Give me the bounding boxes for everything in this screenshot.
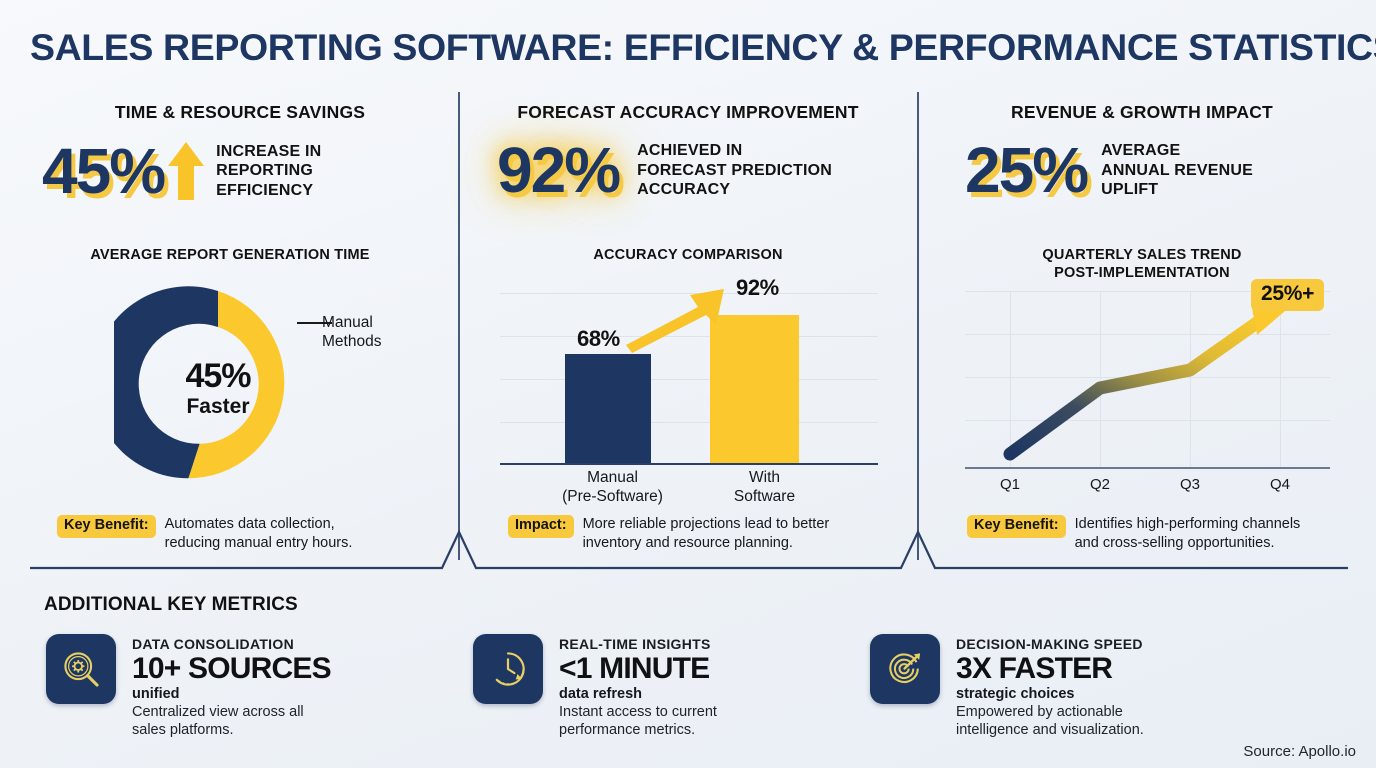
bar-gridline [500,422,878,423]
metric-kicker: REAL-TIME INSIGHTS [559,636,717,652]
metric-subtitle: strategic choices [956,686,1144,702]
donut-legend-line: Methods [322,332,381,351]
metric-data-consolidation: DATA CONSOLIDATION 10+ SOURCES unified C… [46,634,446,740]
hero-stat-1: 45% INCREASE IN REPORTING EFFICIENCY [42,140,321,202]
bar-manual [565,354,651,463]
line-chart [965,291,1330,469]
arrow-up-icon [166,140,206,202]
hero-caption-3: AVERAGE ANNUAL REVENUE UPLIFT [1101,141,1253,200]
hero-caption-2: ACHIEVED IN FORECAST PREDICTION ACCURACY [637,141,832,200]
key-benefit-text-3: Identifies high-performing channels and … [1075,515,1301,553]
line-chart-annotation-pill: 25%+ [1251,279,1324,311]
bar-category-software: With Software [672,469,857,506]
key-benefit-tag-2: Impact: [508,515,574,538]
hero-stat-2: 92% ACHIEVED IN FORECAST PREDICTION ACCU… [497,140,832,201]
key-benefit-3: Key Benefit: Identifies high-performing … [967,515,1367,553]
key-benefit-line: and cross-selling opportunities. [1075,534,1301,553]
metric-description-line: Instant access to current [559,703,717,722]
key-benefit-line: More reliable projections lead to better [583,515,830,534]
metric-value: 10+ SOURCES [132,653,331,685]
metric-kicker: DATA CONSOLIDATION [132,636,331,652]
metric-subtitle: unified [132,686,331,702]
hero-number-2: 92% [497,140,619,201]
metric-description-line: Empowered by actionable [956,703,1144,722]
metric-kicker: DECISION-MAKING SPEED [956,636,1144,652]
hero-caption-line: ACCURACY [637,180,832,200]
bar-value-label-manual: 68% [577,326,620,352]
line-x-label-q3: Q3 [1160,476,1220,493]
hero-caption-line: INCREASE IN [216,142,321,162]
hero-caption-line: AVERAGE [1101,141,1253,161]
hero-number-3: 25% [965,140,1087,201]
clock-refresh-icon [473,634,543,704]
donut-legend-line: Manual [322,313,381,332]
column-heading-1: TIME & RESOURCE SAVINGS [30,102,450,123]
hero-caption-line: EFFICIENCY [216,181,321,201]
hero-caption-line: UPLIFT [1101,180,1253,200]
key-benefit-text-2: More reliable projections lead to better… [583,515,830,553]
metric-body: DATA CONSOLIDATION 10+ SOURCES unified C… [132,634,331,740]
metric-real-time-insights: REAL-TIME INSIGHTS <1 MINUTE data refres… [473,634,803,740]
metric-body: DECISION-MAKING SPEED 3X FASTER strategi… [956,634,1144,740]
column-heading-2: FORECAST ACCURACY IMPROVEMENT [478,102,898,123]
hero-caption-line: FORECAST PREDICTION [637,161,832,181]
donut-chart-title: AVERAGE REPORT GENERATION TIME [30,246,430,264]
hero-caption-line: REPORTING [216,161,321,181]
metric-description: Instant access to current performance me… [559,703,717,740]
key-benefit-tag-1: Key Benefit: [57,515,156,538]
key-benefit-text-1: Automates data collection, reducing manu… [165,515,353,553]
magnifier-gear-icon [46,634,116,704]
bar-chart-title: ACCURACY COMPARISON [478,246,898,264]
additional-metrics-title: ADDITIONAL KEY METRICS [44,594,298,616]
metric-value: <1 MINUTE [559,653,717,685]
metric-subtitle: data refresh [559,686,717,702]
hero-caption-line: ACHIEVED IN [637,141,832,161]
line-x-label-q2: Q2 [1070,476,1130,493]
donut-chart: 45% Faster [114,283,322,491]
infographic-canvas: SALES REPORTING SOFTWARE: EFFICIENCY & P… [0,0,1376,768]
donut-center-value: 45% [114,359,322,393]
metric-value: 3X FASTER [956,653,1144,685]
bar-chart-growth-arrow [620,285,740,355]
hero-number-1: 45% [42,141,164,202]
donut-center-label: 45% Faster [114,359,322,419]
page-title: SALES REPORTING SOFTWARE: EFFICIENCY & P… [30,26,1350,69]
hero-caption-line: ANNUAL REVENUE [1101,161,1253,181]
donut-legend-label: Manual Methods [322,313,381,351]
key-benefit-tag-3: Key Benefit: [967,515,1066,538]
donut-center-caption: Faster [114,395,322,419]
key-benefit-line: reducing manual entry hours. [165,534,353,553]
bar-category-line: Software [672,488,857,507]
metric-description-line: sales platforms. [132,721,331,740]
bar-axis-line [500,463,878,465]
key-benefit-1: Key Benefit: Automates data collection, … [57,515,447,553]
bar-value-label-software: 92% [736,275,779,301]
source-credit: Source: Apollo.io [1243,743,1356,760]
metric-description: Centralized view across all sales platfo… [132,703,331,740]
key-benefit-line: inventory and resource planning. [583,534,830,553]
line-x-label-q1: Q1 [980,476,1040,493]
key-benefit-line: Identifies high-performing channels [1075,515,1301,534]
metric-description-line: Centralized view across all [132,703,331,722]
bar-category-line: With [672,469,857,488]
line-chart-trend [965,291,1330,469]
bar-gridline [500,379,878,380]
column-heading-3: REVENUE & GROWTH IMPACT [937,102,1347,123]
target-arrow-icon [870,634,940,704]
metric-decision-making-speed: DECISION-MAKING SPEED 3X FASTER strategi… [870,634,1290,740]
hero-caption-1: INCREASE IN REPORTING EFFICIENCY [216,142,321,201]
key-benefit-line: Automates data collection, [165,515,353,534]
line-x-label-q4: Q4 [1250,476,1310,493]
metric-description-line: intelligence and visualization. [956,721,1144,740]
key-benefit-2: Impact: More reliable projections lead t… [508,515,908,553]
metric-description-line: performance metrics. [559,721,717,740]
line-chart-title-line: QUARTERLY SALES TREND [937,246,1347,264]
line-chart-title: QUARTERLY SALES TREND POST-IMPLEMENTATIO… [937,246,1347,282]
metric-body: REAL-TIME INSIGHTS <1 MINUTE data refres… [559,634,717,740]
metric-description: Empowered by actionable intelligence and… [956,703,1144,740]
hero-stat-3: 25% AVERAGE ANNUAL REVENUE UPLIFT [965,140,1253,201]
